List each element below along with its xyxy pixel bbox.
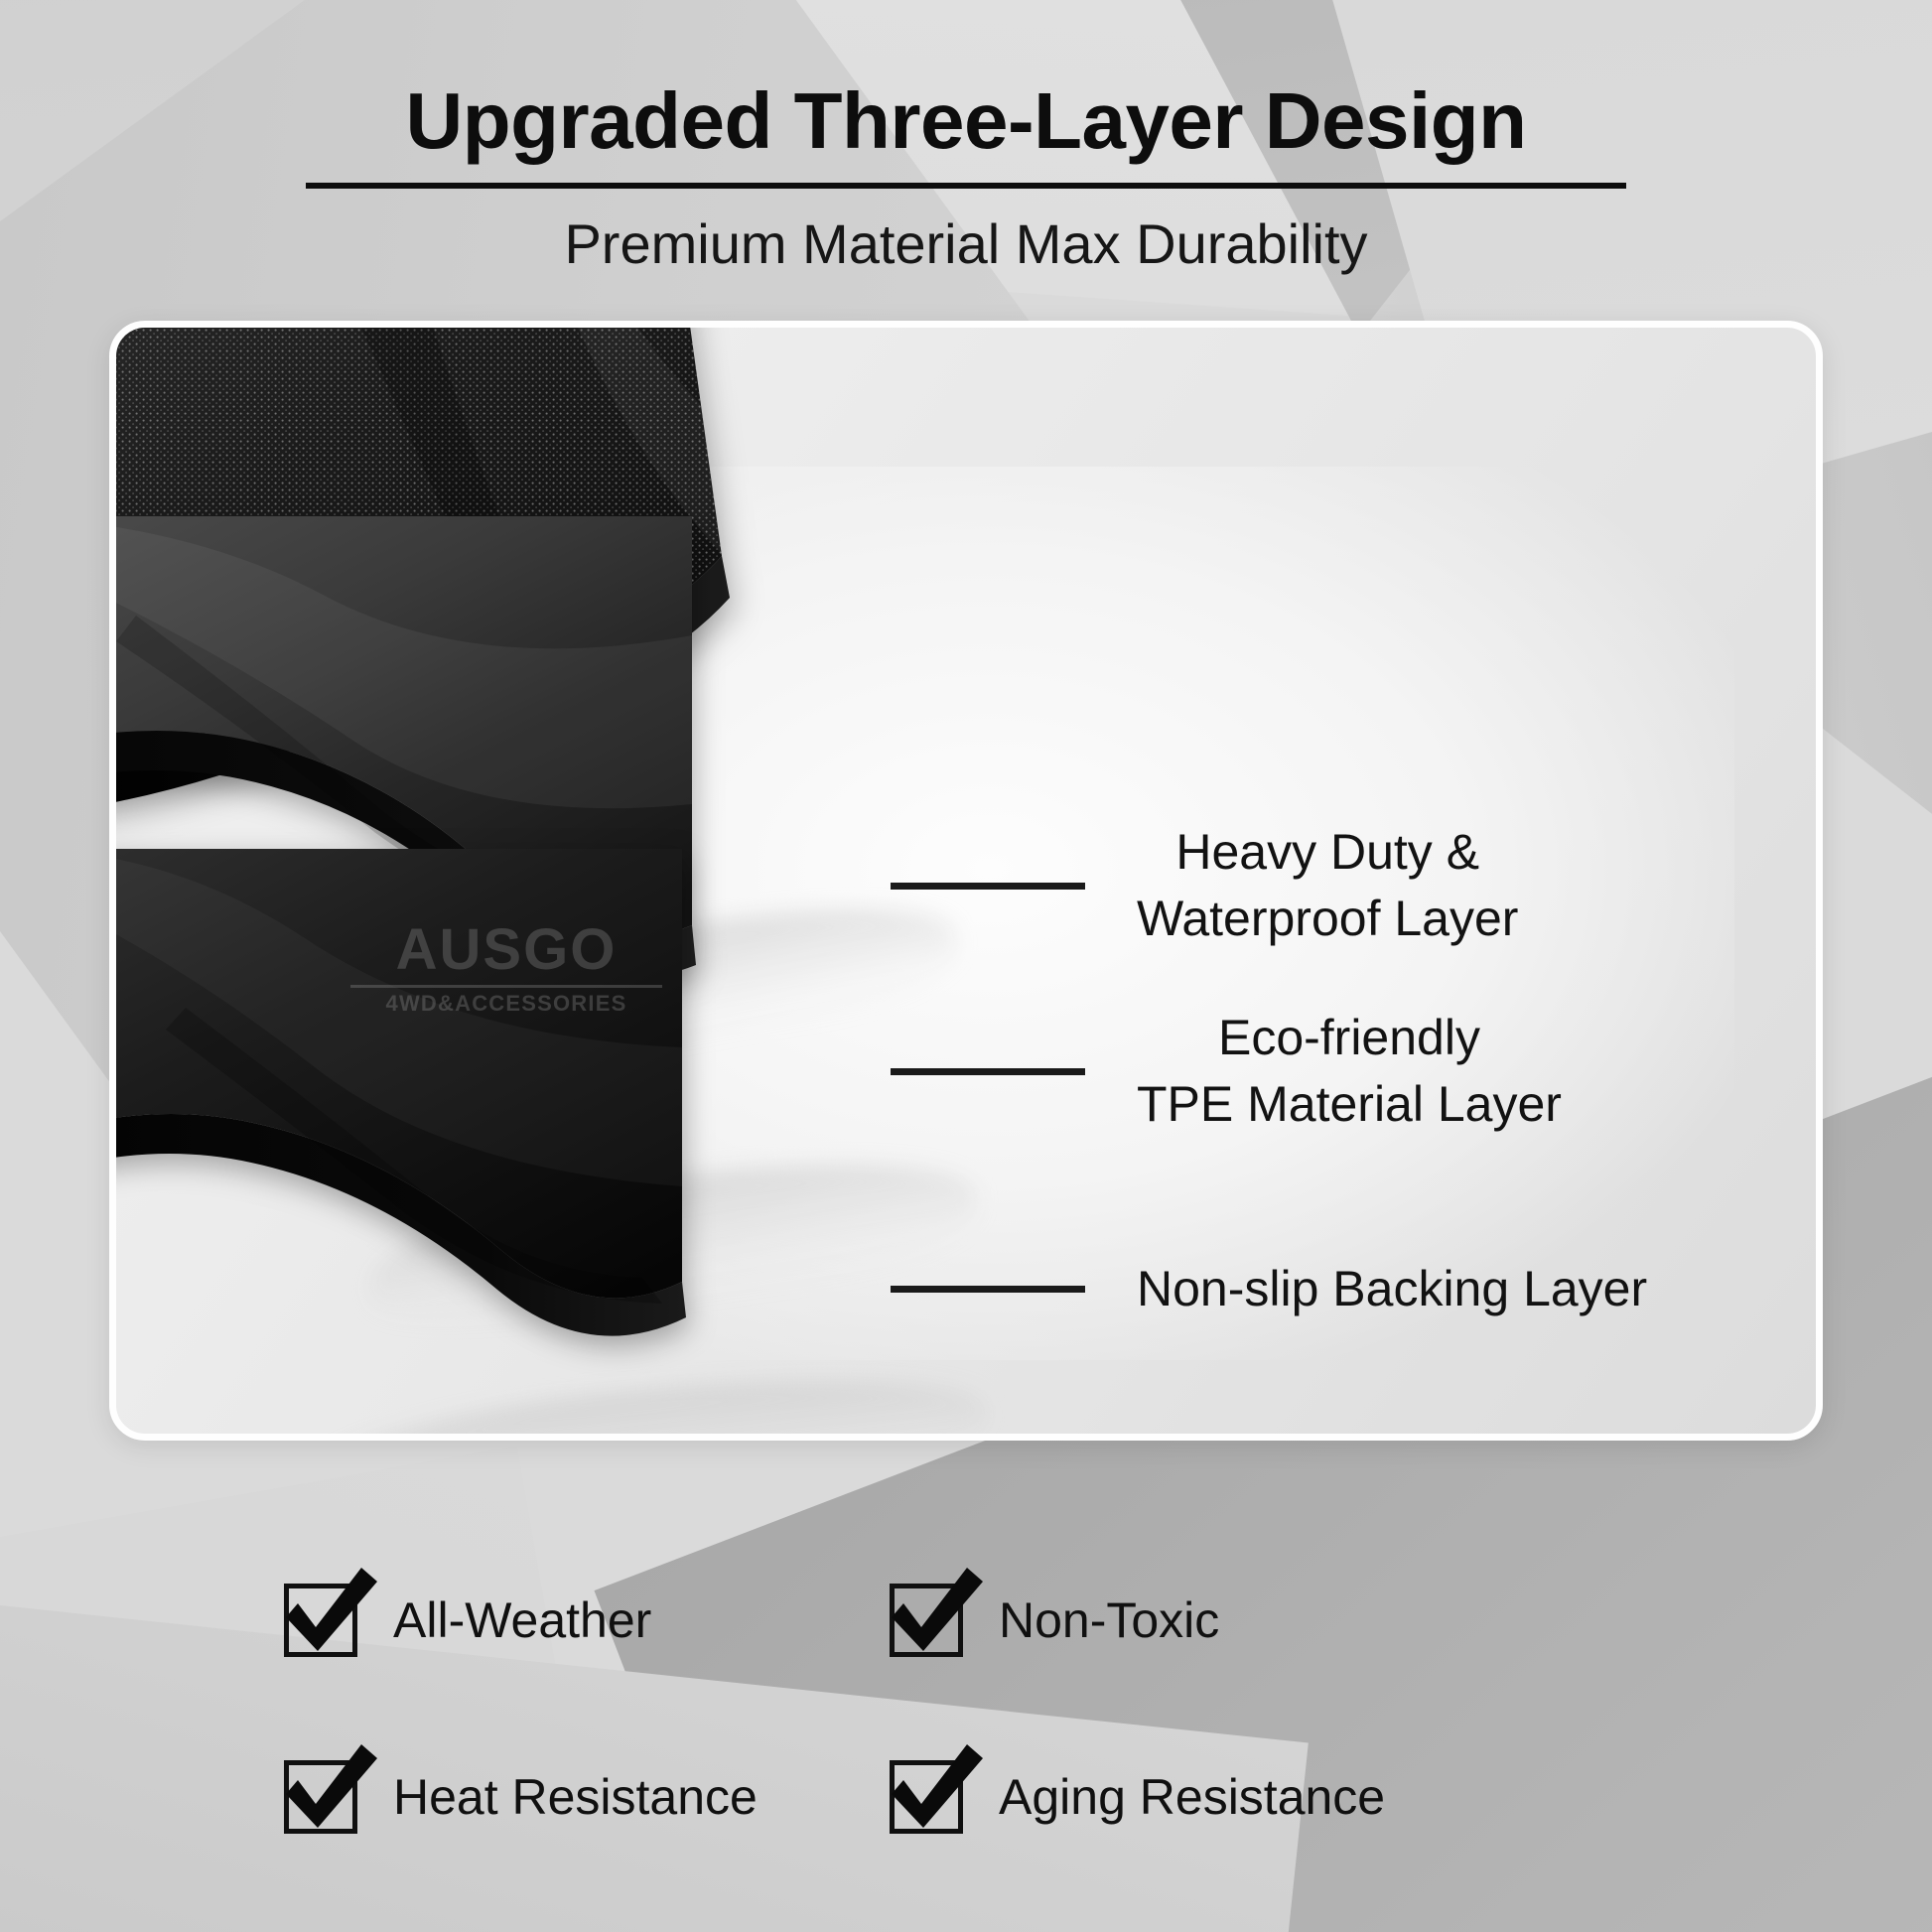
layer-reflection-bottom <box>291 1354 995 1434</box>
infographic-root: Upgraded Three-Layer Design Premium Mate… <box>0 0 1932 1932</box>
callout-non-slip-backing: Non-slip Backing Layer <box>891 1256 1647 1322</box>
callout-label-2: Eco-friendly TPE Material Layer <box>1137 1005 1562 1138</box>
checkbox-non-toxic <box>890 1584 963 1657</box>
page-subtitle: Premium Material Max Durability <box>0 212 1932 276</box>
check-icon <box>276 1560 387 1671</box>
check-icon <box>276 1736 387 1848</box>
callout-eco-friendly-tpe: Eco-friendly TPE Material Layer <box>891 1005 1562 1138</box>
callout-label-1: Heavy Duty & Waterproof Layer <box>1137 819 1518 952</box>
callout-label-3: Non-slip Backing Layer <box>1137 1256 1647 1322</box>
feature-item-heat-resistance: Heat Resistance <box>284 1709 890 1885</box>
check-icon <box>882 1736 993 1848</box>
title-divider <box>306 183 1626 189</box>
header: Upgraded Three-Layer Design Premium Mate… <box>0 0 1932 276</box>
callout-heavy-duty-waterproof: Heavy Duty & Waterproof Layer <box>891 819 1518 952</box>
feature-item-non-toxic: Non-Toxic <box>890 1532 1495 1709</box>
feature-label: All-Weather <box>393 1595 651 1645</box>
check-icon <box>882 1560 993 1671</box>
feature-label: Aging Resistance <box>999 1772 1385 1822</box>
callout-leader-line-1 <box>891 883 1085 890</box>
mat-layer-non-slip-backing <box>116 889 732 1365</box>
callout-leader-line-3 <box>891 1286 1085 1293</box>
feature-item-aging-resistance: Aging Resistance <box>890 1709 1495 1885</box>
feature-label: Non-Toxic <box>999 1595 1219 1645</box>
checkbox-heat-resistance <box>284 1760 357 1834</box>
product-photo-card: AUSGO 4WD&ACCESSORIES Heavy Duty & Water… <box>109 321 1823 1441</box>
checkbox-all-weather <box>284 1584 357 1657</box>
feature-label: Heat Resistance <box>393 1772 758 1822</box>
callout-leader-line-2 <box>891 1068 1085 1075</box>
page-title: Upgraded Three-Layer Design <box>0 0 1932 167</box>
feature-item-all-weather: All-Weather <box>284 1532 890 1709</box>
checkbox-aging-resistance <box>890 1760 963 1834</box>
feature-checklist: All-Weather Non-Toxic Heat Resistance <box>284 1532 1654 1885</box>
